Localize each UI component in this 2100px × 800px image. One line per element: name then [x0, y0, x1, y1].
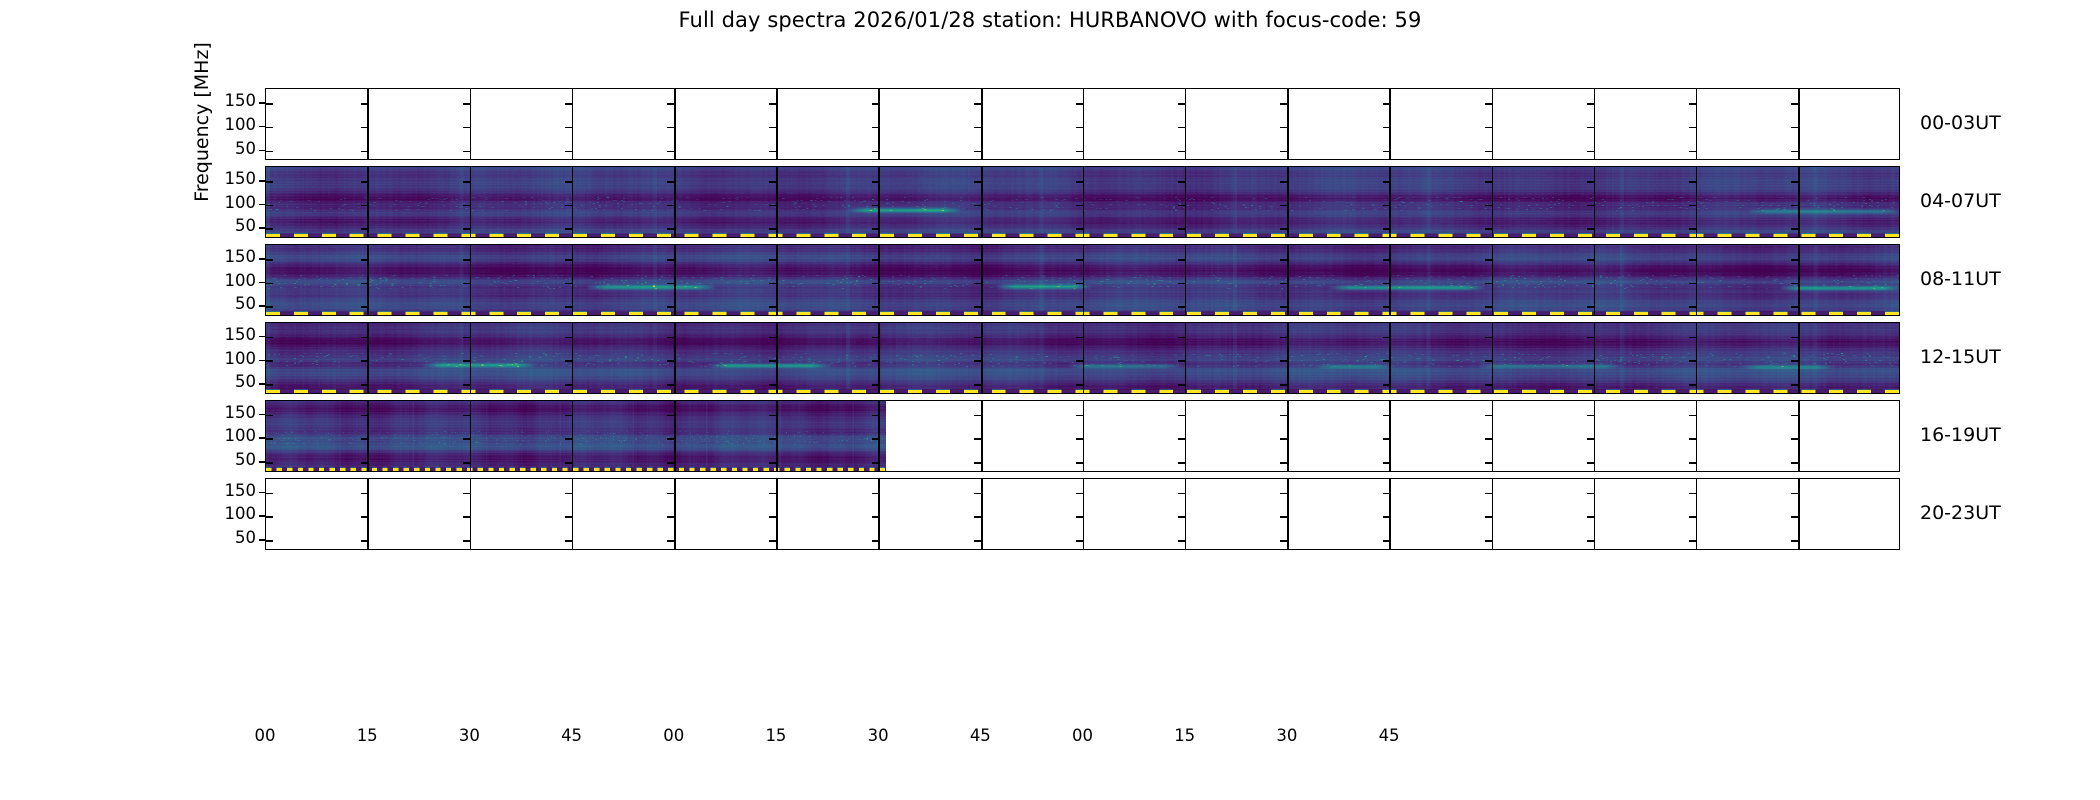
y-tick-mark: [259, 360, 266, 362]
x-tick-label: 30: [449, 726, 489, 745]
axis-tick: [1076, 438, 1083, 440]
axis-tick: [1280, 438, 1287, 440]
panel-divider: [470, 479, 472, 549]
axis-tick: [974, 127, 981, 129]
axis-tick: [1587, 516, 1594, 518]
panel-divider: [1185, 89, 1187, 159]
axis-tick: [1791, 127, 1798, 129]
axis-tick: [361, 151, 368, 153]
axis-tick: [1178, 462, 1185, 464]
panel-divider: [1492, 89, 1494, 159]
axis-tick: [1280, 151, 1287, 153]
axis-tick: [1076, 540, 1083, 542]
y-tick-label: 50: [196, 218, 256, 234]
axis-tick: [1485, 516, 1492, 518]
axis-tick: [1689, 462, 1696, 464]
panel-divider: [367, 479, 369, 549]
axis-tick: [1485, 151, 1492, 153]
spectrogram-row-20-23ut: [265, 478, 1900, 550]
spectrogram-figure: Full day spectra 2026/01/28 station: HUR…: [0, 0, 2100, 800]
axis-tick: [565, 103, 572, 105]
axis-tick: [463, 103, 470, 105]
axis-tick: [872, 540, 879, 542]
axis-tick: [974, 540, 981, 542]
panel-divider: [1389, 479, 1391, 549]
y-tick-label: 50: [196, 141, 256, 157]
y-tick-mark: [259, 414, 266, 416]
axis-tick: [1791, 516, 1798, 518]
axis-tick: [1280, 516, 1287, 518]
axis-tick: [1178, 103, 1185, 105]
axis-tick: [667, 516, 674, 518]
axis-tick: [1791, 438, 1798, 440]
axis-tick: [1485, 127, 1492, 129]
y-tick-label: 150: [196, 171, 256, 187]
axis-tick: [463, 540, 470, 542]
panel-divider: [470, 89, 472, 159]
x-tick-label: 15: [1165, 726, 1205, 745]
y-tick-label: 50: [196, 374, 256, 390]
axis-tick: [1076, 151, 1083, 153]
axis-tick: [1076, 493, 1083, 495]
row-label-08-11ut: 08-11UT: [1920, 268, 2001, 290]
y-tick-label: 150: [196, 405, 256, 421]
axis-tick: [1485, 462, 1492, 464]
axis-tick: [1178, 127, 1185, 129]
axis-tick: [1076, 127, 1083, 129]
axis-tick: [1383, 151, 1390, 153]
x-tick-label: 30: [1267, 726, 1307, 745]
axis-tick: [1485, 103, 1492, 105]
axis-tick: [463, 493, 470, 495]
panel-divider: [981, 479, 983, 549]
y-tick-label: 100: [196, 428, 256, 444]
axis-tick: [769, 493, 776, 495]
y-tick-label: 150: [196, 327, 256, 343]
y-tick-label: 100: [196, 273, 256, 289]
axis-tick: [361, 516, 368, 518]
axis-tick: [1485, 415, 1492, 417]
axis-tick: [974, 493, 981, 495]
y-tick-label: 150: [196, 93, 256, 109]
panel-divider: [878, 89, 880, 159]
spectrogram-row-16-19ut: [265, 400, 1900, 472]
y-tick-label: 150: [196, 249, 256, 265]
axis-tick: [1280, 127, 1287, 129]
y-tick-mark: [259, 305, 266, 307]
panel-divider: [1389, 89, 1391, 159]
x-tick-label: 45: [552, 726, 592, 745]
panel-divider: [878, 479, 880, 549]
y-tick-mark: [259, 539, 266, 541]
y-tick-mark: [259, 102, 266, 104]
axis-tick: [769, 540, 776, 542]
panel-divider: [1492, 479, 1494, 549]
axis-tick: [463, 151, 470, 153]
panel-divider: [1083, 479, 1085, 549]
y-tick-mark: [259, 461, 266, 463]
axis-tick: [565, 516, 572, 518]
axis-tick: [1383, 540, 1390, 542]
axis-tick: [872, 493, 879, 495]
panel-divider: [1594, 401, 1596, 471]
x-axis: 001530450015304500153045: [0, 718, 2100, 758]
figure-title: Full day spectra 2026/01/28 station: HUR…: [0, 8, 2100, 32]
axis-tick: [1383, 415, 1390, 417]
axis-tick: [1485, 540, 1492, 542]
x-tick-label: 45: [960, 726, 1000, 745]
axis-tick: [1485, 493, 1492, 495]
axis-tick: [463, 516, 470, 518]
axis-tick: [1791, 540, 1798, 542]
row-label-16-19ut: 16-19UT: [1920, 424, 2001, 446]
axis-tick: [1791, 415, 1798, 417]
axis-tick: [565, 540, 572, 542]
panel-divider: [1798, 401, 1800, 471]
axis-tick: [1383, 127, 1390, 129]
spectrogram-row-04-07ut: [265, 166, 1900, 238]
axis-tick: [361, 540, 368, 542]
panel-divider: [1492, 401, 1494, 471]
spectrogram-image: [266, 167, 1900, 237]
y-tick-mark: [259, 227, 266, 229]
axis-tick: [266, 493, 273, 495]
axis-tick: [1587, 540, 1594, 542]
axis-tick: [1791, 462, 1798, 464]
spectrogram-image: [266, 401, 886, 471]
y-tick-mark: [259, 150, 266, 152]
y-tick-mark: [259, 336, 266, 338]
axis-tick: [1383, 438, 1390, 440]
axis-tick: [974, 462, 981, 464]
panel-divider: [1389, 401, 1391, 471]
axis-tick: [361, 127, 368, 129]
axis-tick: [266, 516, 273, 518]
axis-tick: [1791, 493, 1798, 495]
panel-divider: [1594, 479, 1596, 549]
axis-tick: [1178, 493, 1185, 495]
axis-tick: [667, 151, 674, 153]
axis-tick: [974, 516, 981, 518]
axis-tick: [1689, 103, 1696, 105]
axis-tick: [769, 127, 776, 129]
panel-divider: [1083, 89, 1085, 159]
panel-divider: [981, 89, 983, 159]
axis-tick: [872, 151, 879, 153]
panel-divider: [367, 89, 369, 159]
axis-tick: [1689, 415, 1696, 417]
axis-tick: [974, 438, 981, 440]
axis-tick: [1076, 516, 1083, 518]
panel-divider: [674, 89, 676, 159]
axis-tick: [1587, 493, 1594, 495]
panel-divider: [1083, 401, 1085, 471]
axis-tick: [667, 493, 674, 495]
axis-tick: [266, 151, 273, 153]
axis-tick: [565, 127, 572, 129]
axis-tick: [974, 415, 981, 417]
panel-divider: [1287, 401, 1289, 471]
axis-tick: [974, 151, 981, 153]
axis-tick: [1383, 103, 1390, 105]
axis-tick: [1689, 540, 1696, 542]
panel-divider: [1696, 401, 1698, 471]
x-tick-label: 30: [858, 726, 898, 745]
y-tick-mark: [259, 180, 266, 182]
axis-tick: [1076, 103, 1083, 105]
axis-tick: [1689, 516, 1696, 518]
x-tick-label: 00: [245, 726, 285, 745]
axis-tick: [1587, 438, 1594, 440]
axis-tick: [361, 493, 368, 495]
y-tick-mark: [259, 492, 266, 494]
panel-divider: [1287, 89, 1289, 159]
axis-tick: [1689, 438, 1696, 440]
y-tick-label: 50: [196, 452, 256, 468]
panel-divider: [1287, 479, 1289, 549]
axis-tick: [1178, 151, 1185, 153]
panel-divider: [572, 89, 574, 159]
axis-tick: [1280, 540, 1287, 542]
x-tick-label: 15: [347, 726, 387, 745]
axis-tick: [1383, 493, 1390, 495]
axis-tick: [667, 127, 674, 129]
row-label-20-23ut: 20-23UT: [1920, 502, 2001, 524]
axis-tick: [1791, 151, 1798, 153]
axis-tick: [1587, 127, 1594, 129]
panel-divider: [981, 401, 983, 471]
axis-tick: [872, 127, 879, 129]
axis-tick: [1587, 103, 1594, 105]
axis-tick: [266, 127, 273, 129]
axis-tick: [1076, 462, 1083, 464]
axis-tick: [1280, 493, 1287, 495]
panel-divider: [572, 479, 574, 549]
axis-tick: [1383, 516, 1390, 518]
x-tick-label: 00: [654, 726, 694, 745]
y-tick-label: 50: [196, 296, 256, 312]
x-tick-label: 45: [1369, 726, 1409, 745]
panel-divider: [776, 479, 778, 549]
y-tick-mark: [259, 204, 266, 206]
axis-tick: [1178, 415, 1185, 417]
axis-tick: [1791, 103, 1798, 105]
spectrogram-image: [266, 323, 1900, 393]
y-tick-label: 50: [196, 530, 256, 546]
panel-divider: [1798, 479, 1800, 549]
panel-divider: [1594, 89, 1596, 159]
axis-tick: [974, 103, 981, 105]
axis-tick: [266, 103, 273, 105]
panel-divider: [1185, 401, 1187, 471]
axis-tick: [1689, 493, 1696, 495]
axis-tick: [565, 151, 572, 153]
axis-tick: [1280, 462, 1287, 464]
y-tick-label: 150: [196, 483, 256, 499]
axis-tick: [463, 127, 470, 129]
y-tick-mark: [259, 282, 266, 284]
row-label-00-03ut: 00-03UT: [1920, 112, 2001, 134]
axis-tick: [769, 103, 776, 105]
axis-tick: [1178, 438, 1185, 440]
spectrogram-row-08-11ut: [265, 244, 1900, 316]
axis-tick: [1689, 151, 1696, 153]
axis-tick: [1689, 127, 1696, 129]
panel-divider: [1696, 89, 1698, 159]
y-tick-label: 100: [196, 351, 256, 367]
spectrogram-image: [266, 245, 1900, 315]
axis-tick: [769, 151, 776, 153]
y-tick-mark: [259, 126, 266, 128]
x-tick-label: 15: [756, 726, 796, 745]
axis-tick: [565, 493, 572, 495]
y-tick-mark: [259, 515, 266, 517]
row-label-12-15ut: 12-15UT: [1920, 346, 2001, 368]
panel-divider: [674, 479, 676, 549]
panel-divider: [1696, 479, 1698, 549]
spectrogram-row-00-03ut: [265, 88, 1900, 160]
panel-divider: [776, 89, 778, 159]
y-tick-label: 100: [196, 506, 256, 522]
axis-tick: [1280, 415, 1287, 417]
x-tick-label: 00: [1063, 726, 1103, 745]
y-tick-mark: [259, 383, 266, 385]
y-tick-label: 100: [196, 195, 256, 211]
panel-divider: [1798, 89, 1800, 159]
axis-tick: [1280, 103, 1287, 105]
axis-tick: [1587, 462, 1594, 464]
axis-tick: [1076, 415, 1083, 417]
panel-separators: [266, 479, 1899, 549]
axis-tick: [1178, 540, 1185, 542]
axis-tick: [1587, 415, 1594, 417]
spectrogram-row-12-15ut: [265, 322, 1900, 394]
panel-separators: [266, 89, 1899, 159]
axis-tick: [1485, 438, 1492, 440]
axis-tick: [872, 516, 879, 518]
axis-tick: [769, 516, 776, 518]
axis-tick: [1383, 462, 1390, 464]
y-tick-mark: [259, 437, 266, 439]
axis-tick: [361, 103, 368, 105]
panel-divider: [1185, 479, 1187, 549]
y-tick-mark: [259, 258, 266, 260]
axis-tick: [872, 103, 879, 105]
axis-tick: [266, 540, 273, 542]
row-label-04-07ut: 04-07UT: [1920, 190, 2001, 212]
axis-tick: [1587, 151, 1594, 153]
y-tick-label: 100: [196, 117, 256, 133]
axis-tick: [1178, 516, 1185, 518]
axis-tick: [667, 540, 674, 542]
axis-tick: [667, 103, 674, 105]
